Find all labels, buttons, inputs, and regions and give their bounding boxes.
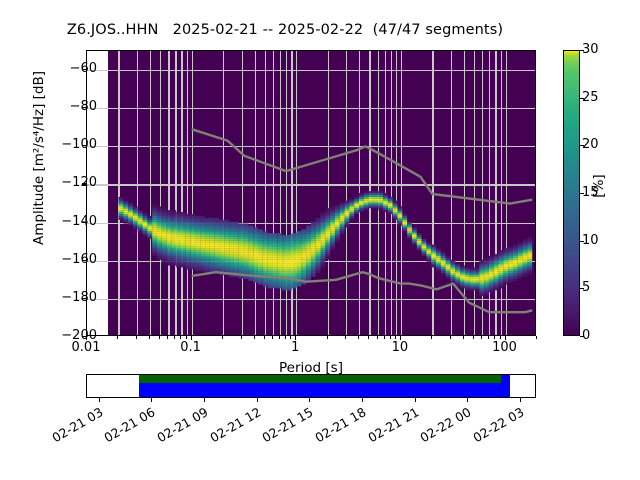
ppsd-density-cell: [210, 264, 215, 266]
ppsd-density-cell: [499, 260, 504, 262]
ppsd-density-cell: [412, 227, 417, 229]
ppsd-density-cell: [484, 275, 489, 277]
ppsd-density-cell: [393, 218, 398, 220]
ppsd-density-cell: [369, 201, 374, 203]
ppsd-density-cell: [402, 218, 407, 220]
ppsd-density-cell: [171, 239, 176, 241]
ppsd-density-cell: [523, 252, 528, 254]
ppsd-density-cell: [119, 206, 124, 208]
ppsd-density-cell: [253, 250, 258, 252]
ppsd-density-cell: [263, 260, 268, 262]
ppsd-density-cell: [412, 229, 417, 231]
ppsd-density-cell: [398, 210, 403, 212]
ppsd-density-cell: [229, 231, 234, 233]
ppsd-density-cell: [224, 239, 229, 241]
ppsd-density-cell: [162, 239, 167, 241]
ppsd-density-cell: [234, 256, 239, 258]
ppsd-density-cell: [287, 248, 292, 250]
ppsd-density-cell: [479, 277, 484, 279]
ppsd-density-cell: [292, 275, 297, 277]
ppsd-density-cell: [282, 260, 287, 262]
ppsd-density-cell: [195, 237, 200, 239]
ppsd-density-cell: [253, 231, 258, 233]
ppsd-density-cell: [191, 245, 196, 247]
ppsd-density-cell: [503, 269, 508, 271]
ppsd-density-cell: [181, 225, 186, 227]
ppsd-density-cell: [258, 271, 263, 273]
ppsd-density-cell: [167, 250, 172, 252]
coverage-tick-mark: [415, 398, 416, 402]
ppsd-density-cell: [248, 262, 253, 264]
ppsd-density-cell: [523, 248, 528, 250]
ppsd-density-cell: [244, 256, 249, 258]
ppsd-density-cell: [210, 248, 215, 250]
ppsd-density-cell: [296, 233, 301, 235]
ppsd-density-cell: [210, 243, 215, 245]
ppsd-density-cell: [378, 193, 383, 195]
ppsd-density-cell: [220, 225, 225, 227]
ppsd-density-cell: [311, 241, 316, 243]
ppsd-density-cell: [220, 231, 225, 233]
ppsd-density-cell: [335, 237, 340, 239]
ppsd-density-cell: [393, 216, 398, 218]
ppsd-density-cell: [244, 239, 249, 241]
ppsd-density-cell: [316, 262, 321, 264]
ppsd-density-cell: [167, 216, 172, 218]
ppsd-density-cell: [268, 271, 273, 273]
ppsd-density-cell: [210, 250, 215, 252]
ppsd-density-cell: [210, 262, 215, 264]
ppsd-density-cell: [282, 267, 287, 269]
ppsd-density-cell: [229, 248, 234, 250]
ppsd-density-cell: [292, 248, 297, 250]
ppsd-density-cell: [388, 204, 393, 206]
ppsd-density-cell: [152, 241, 157, 243]
ppsd-density-cell: [321, 227, 326, 229]
ppsd-density-cell: [335, 216, 340, 218]
ppsd-density-cell: [378, 201, 383, 203]
ppsd-density-cell: [138, 224, 143, 226]
ppsd-density-cell: [268, 243, 273, 245]
ppsd-density-cell: [479, 273, 484, 275]
ppsd-density-cell: [503, 266, 508, 268]
ppsd-density-cell: [210, 260, 215, 262]
ppsd-density-cell: [215, 225, 220, 227]
ppsd-density-cell: [191, 252, 196, 254]
ppsd-density-cell: [474, 269, 479, 271]
ppsd-density-cell: [258, 281, 263, 283]
ppsd-density-cell: [417, 246, 422, 248]
ppsd-density-cell: [316, 225, 321, 227]
ppsd-density-cell: [167, 218, 172, 220]
ppsd-density-cell: [378, 195, 383, 197]
ppsd-density-cell: [263, 250, 268, 252]
ppsd-density-cell: [205, 227, 210, 229]
ppsd-density-cell: [301, 245, 306, 247]
ppsd-density-cell: [513, 254, 518, 256]
ppsd-density-cell: [157, 241, 162, 243]
ppsd-density-cell: [119, 203, 124, 205]
ppsd-density-cell: [340, 229, 345, 231]
ppsd-density-cell: [167, 246, 172, 248]
ppsd-axes[interactable]: [86, 50, 536, 336]
ppsd-density-cell: [296, 248, 301, 250]
ppsd-density-cell: [465, 269, 470, 271]
ppsd-density-cell: [296, 285, 301, 287]
ppsd-density-cell: [119, 197, 124, 199]
ppsd-density-cell: [239, 266, 244, 268]
ppsd-density-cell: [422, 243, 427, 245]
ppsd-density-cell: [306, 225, 311, 227]
ppsd-density-cell: [181, 266, 186, 268]
coverage-tick-mark: [309, 398, 310, 402]
ppsd-density-cell: [518, 243, 523, 245]
ppsd-density-cell: [268, 237, 273, 239]
ppsd-density-cell: [258, 266, 263, 268]
ppsd-density-cell: [210, 245, 215, 247]
ppsd-density-cell: [258, 262, 263, 264]
ppsd-density-cell: [244, 245, 249, 247]
ppsd-density-cell: [277, 260, 282, 262]
x-tick-mark-minor: [384, 336, 385, 339]
x-tick-mark-minor: [290, 336, 291, 339]
ppsd-density-cell: [229, 241, 234, 243]
ppsd-density-cell: [503, 273, 508, 275]
ppsd-density-cell: [277, 279, 282, 281]
ppsd-density-cell: [123, 206, 128, 208]
ppsd-density-cell: [277, 254, 282, 256]
ppsd-density-cell: [152, 237, 157, 239]
ppsd-density-cell: [402, 229, 407, 231]
ppsd-density-cell: [123, 218, 128, 220]
ppsd-density-cell: [388, 212, 393, 214]
ppsd-density-cell: [186, 258, 191, 260]
ppsd-density-cell: [383, 195, 388, 197]
ppsd-density-cell: [244, 243, 249, 245]
ppsd-density-cell: [200, 250, 205, 252]
ppsd-density-cell: [277, 266, 282, 268]
ppsd-density-cell: [186, 224, 191, 226]
x-tick-mark: [295, 336, 296, 340]
ppsd-density-cell: [489, 267, 494, 269]
ppsd-density-cell: [527, 254, 532, 256]
ppsd-density-cell: [171, 258, 176, 260]
ppsd-density-cell: [479, 269, 484, 271]
ppsd-density-cell: [234, 227, 239, 229]
ppsd-density-cell: [340, 214, 345, 216]
ppsd-density-cell: [157, 208, 162, 210]
ppsd-density-cell: [340, 204, 345, 206]
ppsd-density-cell: [508, 258, 513, 260]
ppsd-density-cell: [147, 231, 152, 233]
ppsd-density-cell: [494, 258, 499, 260]
ppsd-density-cell: [306, 241, 311, 243]
ppsd-density-cell: [248, 239, 253, 241]
ppsd-density-cell: [321, 248, 326, 250]
x-tick-mark-minor: [180, 336, 181, 339]
ppsd-density-cell: [450, 264, 455, 266]
ppsd-density-cell: [215, 239, 220, 241]
ppsd-density-cell: [152, 220, 157, 222]
ppsd-density-cell: [306, 256, 311, 258]
ppsd-density-cell: [268, 250, 273, 252]
ppsd-density-cell: [455, 283, 460, 285]
ppsd-density-cell: [282, 262, 287, 264]
ppsd-density-cell: [200, 264, 205, 266]
ppsd-density-cell: [287, 237, 292, 239]
ppsd-density-cell: [518, 262, 523, 264]
ppsd-density-cell: [446, 275, 451, 277]
coverage-tick-label: 02-21 15: [255, 406, 315, 448]
ppsd-density-cell: [523, 246, 528, 248]
ppsd-density-cell: [369, 193, 374, 195]
ppsd-density-cell: [311, 237, 316, 239]
ppsd-density-cell: [330, 214, 335, 216]
ppsd-density-cell: [494, 273, 499, 275]
ppsd-density-cell: [325, 222, 330, 224]
ppsd-density-cell: [205, 243, 210, 245]
ppsd-density-cell: [503, 279, 508, 281]
ppsd-density-cell: [138, 212, 143, 214]
ppsd-density-cell: [181, 214, 186, 216]
ppsd-density-cell: [301, 267, 306, 269]
ppsd-density-cell: [306, 258, 311, 260]
ppsd-density-cell: [220, 235, 225, 237]
ppsd-density-cell: [287, 260, 292, 262]
ppsd-density-cell: [229, 266, 234, 268]
ppsd-density-cell: [335, 233, 340, 235]
ppsd-density-cell: [239, 229, 244, 231]
ppsd-density-cell: [306, 243, 311, 245]
ppsd-density-cell: [244, 248, 249, 250]
ppsd-density-cell: [268, 260, 273, 262]
ppsd-density-cell: [176, 212, 181, 214]
ppsd-density-cell: [215, 218, 220, 220]
ppsd-density-cell: [325, 227, 330, 229]
ppsd-density-cell: [321, 246, 326, 248]
ppsd-density-cell: [215, 224, 220, 226]
ppsd-density-cell: [508, 262, 513, 264]
ppsd-density-cell: [412, 237, 417, 239]
ppsd-density-cell: [152, 214, 157, 216]
ppsd-density-cell: [330, 222, 335, 224]
ppsd-density-cell: [234, 224, 239, 226]
ppsd-density-cell: [499, 269, 504, 271]
ppsd-density-cell: [470, 283, 475, 285]
ppsd-density-cell: [167, 229, 172, 231]
ppsd-density-cell: [272, 273, 277, 275]
ppsd-density-cell: [229, 237, 234, 239]
ppsd-density-cell: [426, 243, 431, 245]
ppsd-density-cell: [426, 250, 431, 252]
ppsd-density-cell: [123, 214, 128, 216]
ppsd-density-cell: [253, 233, 258, 235]
ppsd-density-cell: [268, 248, 273, 250]
colorbar-tick-label: 15: [582, 186, 599, 199]
ppsd-density-cell: [143, 233, 148, 235]
ppsd-density-cell: [494, 288, 499, 290]
ppsd-density-cell: [436, 250, 441, 252]
ppsd-density-cell: [296, 267, 301, 269]
ppsd-density-cell: [229, 262, 234, 264]
ppsd-density-cell: [311, 224, 316, 226]
ppsd-density-cell: [167, 252, 172, 254]
ppsd-density-cell: [181, 218, 186, 220]
ppsd-density-cell: [436, 269, 441, 271]
ppsd-density-cell: [200, 269, 205, 271]
ppsd-density-cell: [354, 204, 359, 206]
ppsd-density-cell: [518, 250, 523, 252]
ppsd-density-cell: [248, 243, 253, 245]
ppsd-density-cell: [282, 281, 287, 283]
ppsd-density-cell: [455, 273, 460, 275]
ppsd-density-cell: [518, 260, 523, 262]
ppsd-density-cell: [441, 266, 446, 268]
ppsd-density-cell: [465, 277, 470, 279]
ppsd-density-cell: [484, 281, 489, 283]
ppsd-density-cell: [465, 275, 470, 277]
ppsd-density-cell: [253, 239, 258, 241]
ppsd-density-cell: [263, 231, 268, 233]
ppsd-density-cell: [301, 246, 306, 248]
ppsd-density-cell: [345, 222, 350, 224]
colorbar[interactable]: [563, 50, 580, 336]
ppsd-density-cell: [205, 235, 210, 237]
ppsd-density-cell: [316, 266, 321, 268]
ppsd-density-cell: [364, 199, 369, 201]
ppsd-density-cell: [301, 250, 306, 252]
ppsd-density-cell: [523, 269, 528, 271]
ppsd-density-cell: [460, 281, 465, 283]
ppsd-density-cell: [340, 233, 345, 235]
ppsd-density-cell: [205, 252, 210, 254]
ppsd-density-cell: [176, 237, 181, 239]
ppsd-density-cell: [311, 273, 316, 275]
ppsd-density-cell: [335, 210, 340, 212]
ppsd-density-cell: [407, 224, 412, 226]
ppsd-density-cell: [499, 281, 504, 283]
ppsd-density-cell: [234, 243, 239, 245]
ppsd-density-cell: [123, 204, 128, 206]
colorbar-tick-mark: [580, 288, 584, 289]
ppsd-density-cell: [258, 269, 263, 271]
ppsd-density-cell: [489, 283, 494, 285]
ppsd-density-cell: [248, 248, 253, 250]
ppsd-density-cell: [345, 224, 350, 226]
ppsd-density-cell: [508, 281, 513, 283]
ppsd-density-cell: [147, 229, 152, 231]
ppsd-density-cell: [210, 254, 215, 256]
ppsd-density-cell: [186, 222, 191, 224]
ppsd-density-cell: [349, 212, 354, 214]
ppsd-density-cell: [205, 262, 210, 264]
ppsd-density-cell: [282, 243, 287, 245]
ppsd-density-cell: [143, 218, 148, 220]
ppsd-density-cell: [450, 267, 455, 269]
ppsd-density-cell: [503, 256, 508, 258]
ppsd-density-cell: [248, 252, 253, 254]
ppsd-density-cell: [147, 222, 152, 224]
ppsd-density-cell: [258, 248, 263, 250]
ppsd-density-cell: [426, 254, 431, 256]
ppsd-density-cell: [402, 216, 407, 218]
ppsd-density-cell: [239, 262, 244, 264]
ppsd-density-cell: [176, 260, 181, 262]
ppsd-density-cell: [321, 229, 326, 231]
ppsd-density-cell: [311, 250, 316, 252]
ppsd-density-cell: [296, 256, 301, 258]
ppsd-density-cell: [479, 266, 484, 268]
ppsd-density-cell: [205, 266, 210, 268]
ppsd-density-cell: [244, 267, 249, 269]
ppsd-density-cell: [398, 216, 403, 218]
ppsd-density-cell: [181, 246, 186, 248]
ppsd-density-cell: [321, 235, 326, 237]
ppsd-density-cell: [340, 218, 345, 220]
ppsd-density-cell: [220, 229, 225, 231]
ppsd-density-cell: [186, 241, 191, 243]
ppsd-density-cell: [234, 239, 239, 241]
ppsd-density-cell: [253, 237, 258, 239]
ppsd-density-cell: [282, 241, 287, 243]
ppsd-density-cell: [272, 248, 277, 250]
ppsd-density-cell: [229, 275, 234, 277]
ppsd-density-cell: [316, 248, 321, 250]
ppsd-density-cell: [162, 237, 167, 239]
ppsd-density-cell: [296, 277, 301, 279]
ppsd-density-cell: [167, 260, 172, 262]
ppsd-density-cell: [239, 250, 244, 252]
ppsd-density-cell: [335, 241, 340, 243]
ppsd-density-cell: [436, 262, 441, 264]
ppsd-density-cell: [186, 239, 191, 241]
ppsd-density-cell: [176, 243, 181, 245]
ppsd-density-cell: [292, 256, 297, 258]
ppsd-density-cell: [494, 279, 499, 281]
ppsd-density-cell: [162, 225, 167, 227]
ppsd-density-cell: [181, 254, 186, 256]
ppsd-density-cell: [316, 245, 321, 247]
ppsd-density-cell: [215, 237, 220, 239]
ppsd-density-cell: [143, 216, 148, 218]
ppsd-density-cell: [268, 256, 273, 258]
ppsd-density-cell: [474, 288, 479, 290]
ppsd-density-cell: [311, 252, 316, 254]
ppsd-density-cell: [311, 262, 316, 264]
ppsd-density-cell: [436, 258, 441, 260]
ppsd-density-cell: [330, 216, 335, 218]
ppsd-density-cell: [157, 216, 162, 218]
curves-overlay: [87, 51, 535, 335]
x-tick-mark-minor: [264, 336, 265, 339]
ppsd-density-cell: [176, 250, 181, 252]
ppsd-density-cell: [186, 264, 191, 266]
ppsd-density-cell: [210, 218, 215, 220]
ppsd-density-cell: [494, 275, 499, 277]
coverage-axes[interactable]: [86, 374, 536, 398]
ppsd-density-cell: [181, 220, 186, 222]
ppsd-density-cell: [446, 267, 451, 269]
ppsd-density-cell: [508, 271, 513, 273]
ppsd-density-cell: [229, 258, 234, 260]
ppsd-density-cell: [354, 210, 359, 212]
ppsd-density-cell: [229, 229, 234, 231]
ppsd-density-cell: [215, 264, 220, 266]
ppsd-density-cell: [513, 264, 518, 266]
ppsd-density-cell: [195, 248, 200, 250]
ppsd-density-cell: [162, 218, 167, 220]
ppsd-density-cell: [321, 233, 326, 235]
